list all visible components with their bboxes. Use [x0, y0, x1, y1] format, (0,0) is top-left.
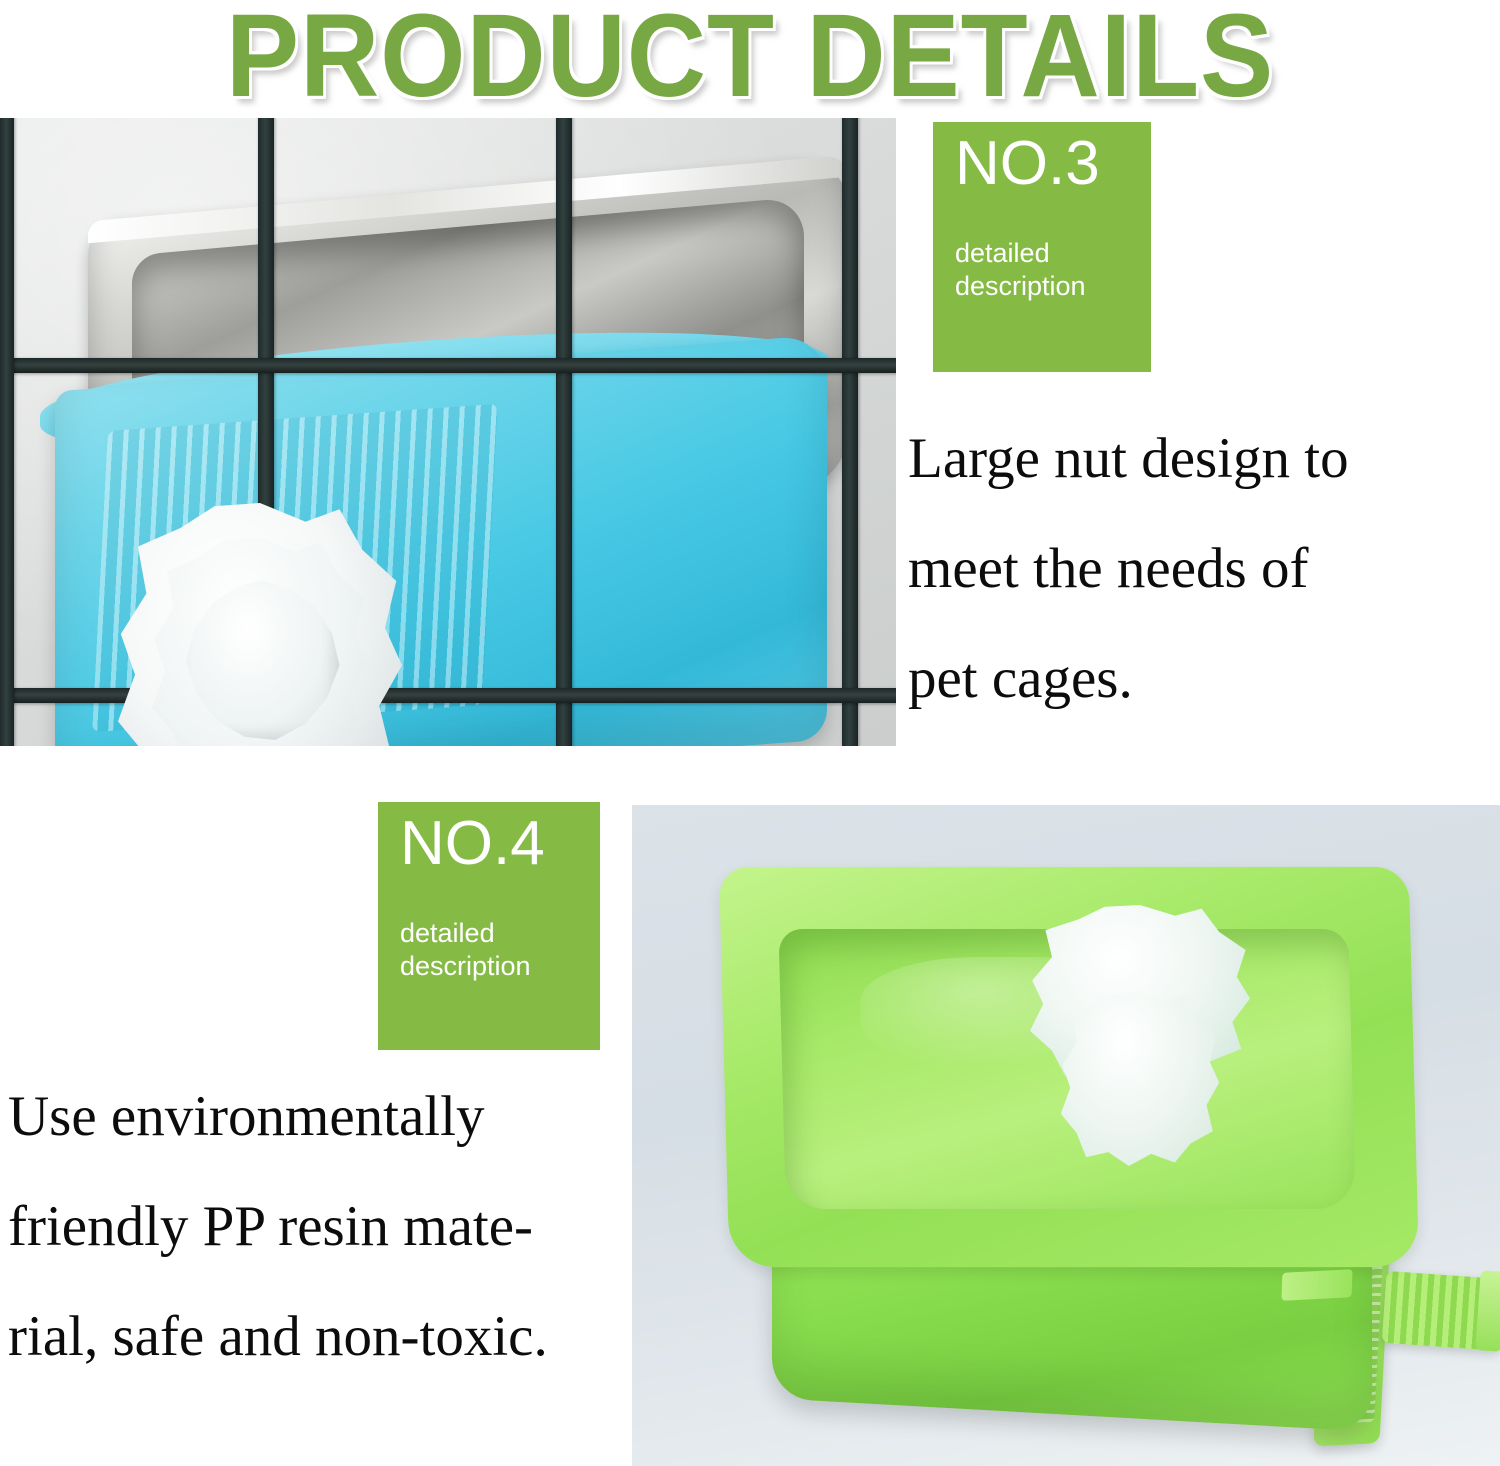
cage-wire-vertical: [842, 118, 858, 746]
description-text-no4: Use environmentally friendly PP resin ma…: [8, 1062, 638, 1392]
badge-subtitle: detailed description: [400, 917, 600, 983]
section-badge-no3: NO.3 detailed description: [933, 122, 1151, 372]
badge-number: NO.4: [400, 812, 600, 875]
description-text-no3: Large nut design to meet the needs of pe…: [908, 404, 1498, 734]
cage-wire-horizontal: [0, 358, 896, 373]
badge-subtitle: detailed description: [955, 237, 1151, 303]
white-mounting-nut: [118, 503, 402, 746]
white-screw-knob: [1030, 905, 1250, 1195]
cage-wire-vertical: [556, 118, 572, 746]
knob-inner-flange: [1061, 992, 1219, 1166]
badge-number: NO.3: [955, 132, 1151, 195]
screw-post-cap: [1475, 1270, 1500, 1352]
green-bowl-photo: [632, 805, 1500, 1466]
section-badge-no4: NO.4 detailed description: [378, 802, 600, 1050]
cage-wire-vertical: [0, 118, 14, 746]
bowl-side-tab: [1281, 1269, 1352, 1301]
page-title: PRODUCT DETAILS: [53, 0, 1448, 124]
blue-bowl-on-cage-photo: [0, 118, 896, 746]
